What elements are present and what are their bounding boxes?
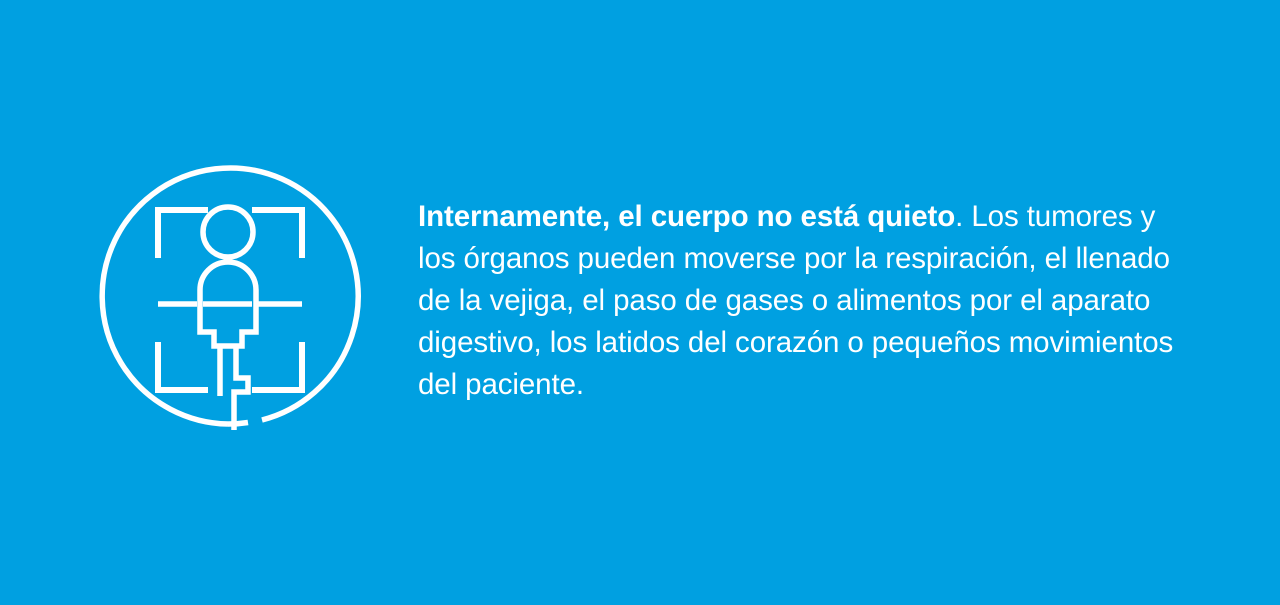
bracket-bottom-left-icon [158,342,208,390]
body-scan-icon [96,162,364,434]
card-content: Internamente, el cuerpo no está quieto. … [0,0,1280,605]
lead-in-text: Internamente, el cuerpo no está quieto [418,200,955,233]
text-container: Internamente, el cuerpo no está quieto. … [418,196,1188,406]
icon-container [96,162,364,434]
figure-head-icon [203,207,253,257]
bracket-top-right-icon [252,210,302,258]
info-card: Internamente, el cuerpo no está quieto. … [0,0,1280,605]
figure-right-leg-icon [234,346,248,430]
bracket-bottom-right-icon [252,342,302,390]
scan-circle-arc-stub [228,423,248,425]
body-paragraph: Internamente, el cuerpo no está quieto. … [418,196,1188,406]
